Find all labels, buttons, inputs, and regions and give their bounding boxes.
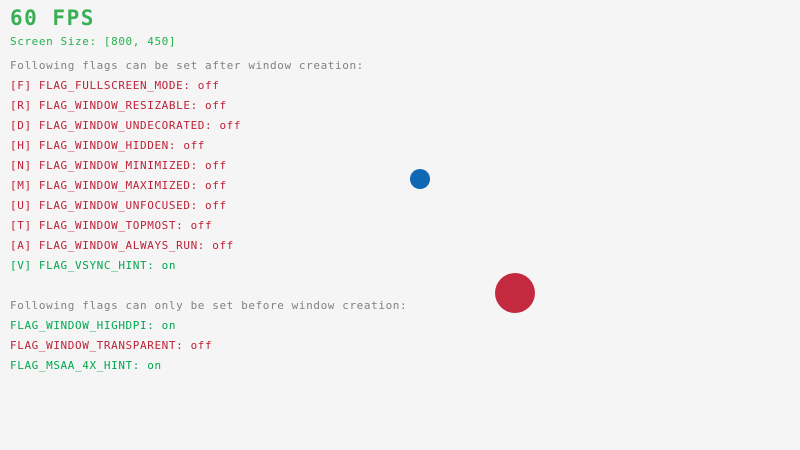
section-header-after-creation: Following flags can be set after window … [10, 60, 364, 71]
fps-counter: 60 FPS [10, 8, 95, 29]
section-header-before-creation: Following flags can only be set before w… [10, 300, 407, 311]
flag-row-window-highdpi: FLAG_WINDOW_HIGHDPI: on [10, 320, 176, 331]
flag-row-window-undecorated[interactable]: [D] FLAG_WINDOW_UNDECORATED: off [10, 120, 241, 131]
flag-row-window-always-run[interactable]: [A] FLAG_WINDOW_ALWAYS_RUN: off [10, 240, 234, 251]
flag-row-window-minimized[interactable]: [N] FLAG_WINDOW_MINIMIZED: off [10, 160, 227, 171]
flag-row-window-transparent: FLAG_WINDOW_TRANSPARENT: off [10, 340, 212, 351]
flag-row-window-topmost[interactable]: [T] FLAG_WINDOW_TOPMOST: off [10, 220, 212, 231]
flag-row-window-maximized[interactable]: [M] FLAG_WINDOW_MAXIMIZED: off [10, 180, 227, 191]
raylib-window-canvas: 60 FPS Screen Size: [800, 450] Following… [0, 0, 800, 450]
flag-row-msaa-4x-hint: FLAG_MSAA_4X_HINT: on [10, 360, 162, 371]
blue-ball [410, 169, 430, 189]
flag-row-window-resizable[interactable]: [R] FLAG_WINDOW_RESIZABLE: off [10, 100, 227, 111]
flag-row-window-unfocused[interactable]: [U] FLAG_WINDOW_UNFOCUSED: off [10, 200, 227, 211]
flag-row-fullscreen-mode[interactable]: [F] FLAG_FULLSCREEN_MODE: off [10, 80, 219, 91]
flag-row-vsync-hint[interactable]: [V] FLAG_VSYNC_HINT: on [10, 260, 176, 271]
flag-row-window-hidden[interactable]: [H] FLAG_WINDOW_HIDDEN: off [10, 140, 205, 151]
red-ball [495, 273, 535, 313]
screen-size-label: Screen Size: [800, 450] [10, 36, 176, 47]
